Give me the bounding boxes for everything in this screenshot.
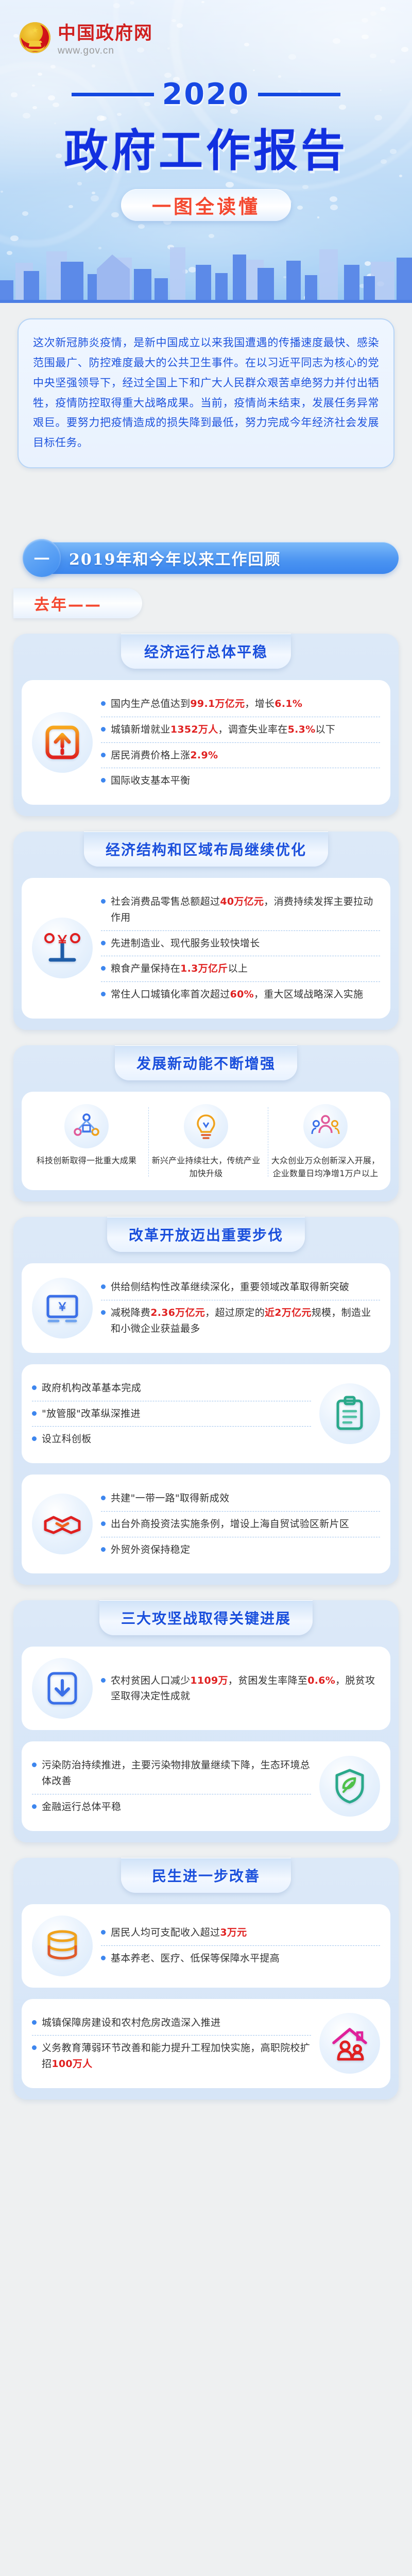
coins-stack-icon: [32, 1916, 93, 1976]
bullet-item: 金融运行总体平稳: [32, 1794, 311, 1820]
card-body: 污染防治持续推进，主要污染物排放量继续下降，生态环境总体改善金融运行总体平稳: [22, 1741, 390, 1831]
bullet-text-segment: 供给侧结构性改革继续深化，重要领域改革取得新突破: [111, 1281, 349, 1293]
bullet-list: 城镇保障房建设和农村危房改造深入推进义务教育薄弱环节改善和能力提升工程加快实施，…: [32, 2010, 311, 2077]
bullet-text-segment: 设立科创板: [42, 1433, 92, 1445]
bullet-text: 社会消费品零售总额超过40万亿元，消费持续发挥主要拉动作用: [111, 894, 380, 926]
year-tag: 去年——: [13, 588, 142, 618]
bullet-item: 外贸外资保持稳定: [101, 1537, 380, 1563]
bullet-text: "放管服"改革纵深推进: [42, 1406, 141, 1422]
card-columns: 科技创新取得一批重大成果新兴产业持续壮大，传统产业加快升级大众创业万众创新深入开…: [22, 1092, 390, 1191]
bullet-text-segment: 以下: [316, 724, 336, 735]
bullet-item: 设立科创板: [32, 1426, 311, 1452]
bullet-item: 社会消费品零售总额超过40万亿元，消费持续发挥主要拉动作用: [101, 889, 380, 930]
bullet-text: 金融运行总体平稳: [42, 1799, 121, 1815]
bullet-item: 常住人口城镇化率首次超过60%，重大区域战略深入实施: [101, 981, 380, 1007]
bullet-dot: [101, 966, 106, 971]
card-body: 城镇保障房建设和农村危房改造深入推进义务教育薄弱环节改善和能力提升工程加快实施，…: [22, 1999, 390, 2088]
bullet-text: 外贸外资保持稳定: [111, 1542, 190, 1558]
bullet-list: 农村贫困人口减少1109万，贫困发生率降至0.6%，脱贫攻坚取得决定性成就: [101, 1668, 380, 1709]
bullet-list: 污染防治持续推进，主要污染物排放量继续下降，生态环境总体改善金融运行总体平稳: [32, 1753, 311, 1819]
house-family-icon: [319, 2013, 380, 2074]
bullet-text: 供给侧结构性改革继续深化，重要领域改革取得新突破: [111, 1279, 349, 1295]
bullet-text-segment: 金融运行总体平稳: [42, 1801, 121, 1812]
card-title: 改革开放迈出重要步伐: [107, 1217, 305, 1252]
card-body: ￥供给侧结构性改革继续深化，重要领域改革取得新突破减税降费2.36万亿元，超过原…: [22, 1263, 390, 1352]
bullet-dot: [32, 1385, 37, 1390]
highlight-value: 5.3%: [288, 724, 316, 735]
bullet-item: 共建"一带一路"取得新成效: [101, 1486, 380, 1511]
bullet-text-segment: 外贸外资保持稳定: [111, 1544, 190, 1555]
highlight-value: 60%: [230, 989, 254, 1000]
card-title-text: 三大攻坚战取得关键进展: [121, 1610, 291, 1627]
bullet-text: 国内生产总值达到99.1万亿元，增长6.1%: [111, 696, 302, 712]
bullet-text-segment: 城镇保障房建设和农村危房改造深入推进: [42, 2017, 220, 2028]
bullet-text-segment: 国内生产总值达到: [111, 698, 190, 709]
bullet-dot: [101, 1521, 106, 1526]
content-card: 改革开放迈出重要步伐￥供给侧结构性改革继续深化，重要领域改革取得新突破减税降费2…: [13, 1217, 399, 1585]
card-title: 发展新动能不断增强: [115, 1045, 297, 1080]
highlight-value: 100万人: [51, 2058, 92, 2070]
bullet-text: 粮食产量保持在1.3万亿斤以上: [111, 961, 248, 977]
bullet-text: 义务教育薄弱环节改善和能力提升工程加快实施，高职院校扩招100万人: [42, 2040, 311, 2072]
card-title: 经济结构和区域布局继续优化: [84, 832, 328, 867]
bullet-text: 常住人口城镇化率首次超过60%，重大区域战略深入实施: [111, 987, 363, 1003]
bullet-item: 国内生产总值达到99.1万亿元，增长6.1%: [101, 691, 380, 717]
bullet-dot: [101, 1496, 106, 1500]
bullet-text-segment: 以上: [228, 963, 248, 974]
bullet-text-segment: ，调查失业率在: [218, 724, 288, 735]
bullet-item: "放管服"改革纵深推进: [32, 1401, 311, 1427]
people-group-icon: [303, 1104, 348, 1148]
bullet-dot: [101, 899, 106, 904]
bullet-text: 国际收支基本平衡: [111, 773, 190, 789]
bullet-item: 居民人均可支配收入超过3万元: [101, 1920, 380, 1945]
bullet-item: 农村贫困人口减少1109万，贫困发生率降至0.6%，脱贫攻坚取得决定性成就: [101, 1668, 380, 1709]
bullet-dot: [101, 701, 106, 706]
bullet-dot: [101, 1956, 106, 1960]
bullet-item: 居民消费价格上涨2.9%: [101, 742, 380, 768]
bullet-dot: [32, 2045, 37, 2050]
bullet-item: 粮食产量保持在1.3万亿斤以上: [101, 956, 380, 981]
content-card: 经济运行总体平稳国内生产总值达到99.1万亿元，增长6.1%城镇新增就业1352…: [13, 634, 399, 816]
rmb-hands-icon: ￥: [32, 1278, 93, 1338]
highlight-value: 40万亿元: [220, 896, 264, 907]
hero-subtitle: 一图全读懂: [152, 191, 260, 219]
highlight-value: 近2万亿元: [265, 1307, 312, 1318]
title-rule: [72, 93, 154, 96]
hero-subtitle-pill: 一图全读懂: [121, 189, 291, 221]
bullet-text-segment: ，增长: [245, 698, 274, 709]
column-text: 大众创业万众创新深入开展，企业数量日均净增1万户以上: [271, 1155, 380, 1180]
handshake-icon: [32, 1494, 93, 1554]
bullet-dot: [32, 1411, 37, 1416]
card-title-text: 民生进一步改善: [152, 1868, 260, 1885]
bullet-text: 城镇新增就业1352万人，调查失业率在5.3%以下: [111, 722, 335, 738]
chip-network-icon: [64, 1104, 109, 1148]
highlight-value: 6.1%: [274, 698, 302, 709]
bullet-item: 城镇保障房建设和农村危房改造深入推进: [32, 2010, 311, 2036]
bullet-dot: [101, 1547, 106, 1552]
bullet-text: 居民人均可支配收入超过3万元: [111, 1925, 247, 1941]
bullet-text-segment: 出台外商投资法实施条例，增设上海自贸试验区新片区: [111, 1518, 349, 1530]
bullet-text: 共建"一带一路"取得新成效: [111, 1490, 229, 1506]
bullet-text: 先进制造业、现代服务业较快增长: [111, 936, 260, 952]
highlight-value: 0.6%: [307, 1675, 335, 1686]
column-text: 新兴产业持续壮大，传统产业加快升级: [151, 1155, 261, 1180]
bullet-text-segment: ，贫困发生率降至: [228, 1675, 307, 1686]
bullet-text-segment: "放管服"改革纵深推进: [42, 1408, 141, 1419]
bullet-dot: [101, 992, 106, 996]
bullet-list: 国内生产总值达到99.1万亿元，增长6.1%城镇新增就业1352万人，调查失业率…: [101, 691, 380, 793]
bullet-dot: [32, 1762, 37, 1767]
bullet-dot: [101, 1678, 106, 1683]
card-body: ￥社会消费品零售总额超过40万亿元，消费持续发挥主要拉动作用先进制造业、现代服务…: [22, 878, 390, 1019]
bullet-text: 政府机构改革基本完成: [42, 1380, 141, 1396]
bullet-text-segment: 共建"一带一路"取得新成效: [111, 1493, 229, 1504]
year-tag-label: 去年——: [34, 592, 102, 615]
card-body: 共建"一带一路"取得新成效出台外商投资法实施条例，增设上海自贸试验区新片区外贸外…: [22, 1475, 390, 1573]
bullet-list: 共建"一带一路"取得新成效出台外商投资法实施条例，增设上海自贸试验区新片区外贸外…: [101, 1486, 380, 1562]
card-body: 国内生产总值达到99.1万亿元，增长6.1%城镇新增就业1352万人，调查失业率…: [22, 680, 390, 805]
bullet-dot: [101, 1930, 106, 1935]
intro-paragraph: 这次新冠肺炎疫情，是新中国成立以来我国遭遇的传播速度最快、感染范围最广、防控难度…: [33, 333, 379, 453]
card-title: 民生进一步改善: [121, 1858, 291, 1893]
intro-section: 这次新冠肺炎疫情，是新中国成立以来我国遭遇的传播速度最快、感染范围最广、防控难度…: [0, 303, 412, 526]
bullet-text: 基本养老、医疗、低保等保障水平提高: [111, 1951, 280, 1967]
bullet-item: 基本养老、医疗、低保等保障水平提高: [101, 1945, 380, 1971]
bullet-text-segment: 农村贫困人口减少: [111, 1675, 190, 1686]
bullet-text-segment: 粮食产量保持在: [111, 963, 180, 974]
bullet-text: 居民消费价格上涨2.9%: [111, 748, 218, 764]
highlight-value: 99.1万亿元: [190, 698, 245, 709]
national-emblem-icon: ★: [20, 22, 50, 53]
card-title-text: 改革开放迈出重要步伐: [129, 1227, 283, 1244]
city-skyline-icon: [0, 242, 412, 304]
page-title: 政府工作报告: [0, 114, 412, 179]
card-body: 居民人均可支配收入超过3万元基本养老、医疗、低保等保障水平提高: [22, 1904, 390, 1988]
clipboard-check-icon: [319, 1383, 380, 1444]
rmb-scale-icon: ￥: [32, 918, 93, 978]
bullet-list: 居民人均可支配收入超过3万元基本养老、医疗、低保等保障水平提高: [101, 1920, 380, 1971]
bullet-item: 污染防治持续推进，主要污染物排放量继续下降，生态环境总体改善: [32, 1753, 311, 1794]
hero-year: 2020: [162, 77, 250, 111]
card-title-text: 发展新动能不断增强: [136, 1055, 276, 1072]
site-brand: ★ 中国政府网 www.gov.cn: [20, 19, 153, 57]
bullet-text: 农村贫困人口减少1109万，贫困发生率降至0.6%，脱贫攻坚取得决定性成就: [111, 1673, 380, 1705]
bullet-dot: [101, 727, 106, 732]
section-header-bar: 2019年和今年以来工作回顾: [36, 542, 399, 574]
bullet-list: 供给侧结构性改革继续深化，重要领域改革取得新突破减税降费2.36万亿元，超过原定…: [101, 1275, 380, 1341]
bullet-text-segment: 政府机构改革基本完成: [42, 1382, 141, 1394]
intro-card: 这次新冠肺炎疫情，是新中国成立以来我国遭遇的传播速度最快、感染范围最广、防控难度…: [18, 318, 394, 468]
down-arrow-icon: [32, 1658, 93, 1719]
cards-root: 经济运行总体平稳国内生产总值达到99.1万亿元，增长6.1%城镇新增就业1352…: [0, 634, 412, 2099]
highlight-value: 3万元: [220, 1927, 247, 1938]
card-body: 农村贫困人口减少1109万，贫困发生率降至0.6%，脱贫攻坚取得决定性成就: [22, 1647, 390, 1730]
bullet-text: 设立科创板: [42, 1431, 92, 1447]
bullet-item: 先进制造业、现代服务业较快增长: [101, 930, 380, 956]
bullet-text-segment: 国际收支基本平衡: [111, 775, 190, 786]
bullet-text-segment: 常住人口城镇化率首次超过: [111, 989, 230, 1000]
hero-title-block: 2020 政府工作报告 一图全读懂: [0, 77, 412, 221]
card-title: 三大攻坚战取得关键进展: [99, 1600, 313, 1635]
hero-banner: ★ 中国政府网 www.gov.cn 2020 政府工作报告 一图全读懂: [0, 0, 412, 526]
card-title: 经济运行总体平稳: [121, 634, 291, 669]
bullet-dot: [32, 1804, 37, 1809]
column-item: 科技创新取得一批重大成果: [29, 1104, 144, 1180]
card-body: 政府机构改革基本完成"放管服"改革纵深推进设立科创板: [22, 1364, 390, 1463]
bullet-dot: [101, 753, 106, 757]
bullet-text-segment: 居民消费价格上涨: [111, 750, 190, 761]
bullet-list: 政府机构改革基本完成"放管服"改革纵深推进设立科创板: [32, 1376, 311, 1452]
card-title-text: 经济结构和区域布局继续优化: [106, 841, 306, 858]
column-text: 科技创新取得一批重大成果: [32, 1155, 141, 1167]
bullet-text: 出台外商投资法实施条例，增设上海自贸试验区新片区: [111, 1516, 349, 1532]
leaf-shield-icon: [319, 1756, 380, 1817]
bullet-text-segment: 减税降费: [111, 1307, 150, 1318]
bullet-dot: [32, 2020, 37, 2025]
content-card: 三大攻坚战取得关键进展农村贫困人口减少1109万，贫困发生率降至0.6%，脱贫攻…: [13, 1600, 399, 1842]
bullet-text-segment: ，重大区域战略深入实施: [254, 989, 363, 1000]
bullet-dot: [101, 941, 106, 945]
section-index-badge: 一: [23, 539, 61, 577]
bullet-item: 出台外商投资法实施条例，增设上海自贸试验区新片区: [101, 1511, 380, 1537]
bullet-item: 义务教育薄弱环节改善和能力提升工程加快实施，高职院校扩招100万人: [32, 2035, 311, 2077]
site-brand-cn: 中国政府网: [58, 19, 153, 45]
lightbulb-icon: [184, 1104, 228, 1148]
svg-text:￥: ￥: [57, 1301, 68, 1314]
bullet-text-segment: ，超过原定的: [205, 1307, 265, 1318]
bullet-text-segment: 社会消费品零售总额超过: [111, 896, 220, 907]
content-card: 民生进一步改善居民人均可支配收入超过3万元基本养老、医疗、低保等保障水平提高城镇…: [13, 1858, 399, 2099]
bullet-text: 减税降费2.36万亿元，超过原定的近2万亿元规模，制造业和小微企业获益最多: [111, 1305, 380, 1337]
arrow-up-box-icon: [32, 712, 93, 773]
bullet-dot: [101, 778, 106, 783]
bullet-item: 供给侧结构性改革继续深化，重要领域改革取得新突破: [101, 1275, 380, 1300]
bullet-dot: [32, 1436, 37, 1441]
highlight-value: 1352万人: [170, 724, 218, 735]
bullet-text-segment: 城镇新增就业: [111, 724, 170, 735]
bullet-item: 国际收支基本平衡: [101, 768, 380, 793]
bullet-text-segment: 污染防治持续推进，主要污染物排放量继续下降，生态环境总体改善: [42, 1759, 310, 1787]
content-card: 经济结构和区域布局继续优化￥社会消费品零售总额超过40万亿元，消费持续发挥主要拉…: [13, 832, 399, 1030]
site-brand-en: www.gov.cn: [58, 45, 153, 57]
highlight-value: 1.3万亿斤: [180, 963, 228, 974]
section-title: 2019年和今年以来工作回顾: [69, 547, 281, 569]
column-item: 新兴产业持续壮大，传统产业加快升级: [148, 1104, 264, 1180]
content-card: 发展新动能不断增强科技创新取得一批重大成果新兴产业持续壮大，传统产业加快升级大众…: [13, 1045, 399, 1202]
bullet-item: 城镇新增就业1352万人，调查失业率在5.3%以下: [101, 717, 380, 742]
bullet-item: 减税降费2.36万亿元，超过原定的近2万亿元规模，制造业和小微企业获益最多: [101, 1300, 380, 1342]
bullet-text-segment: 基本养老、医疗、低保等保障水平提高: [111, 1953, 280, 1964]
card-title-text: 经济运行总体平稳: [144, 643, 268, 660]
bullet-text: 污染防治持续推进，主要污染物排放量继续下降，生态环境总体改善: [42, 1757, 311, 1789]
highlight-value: 2.36万亿元: [150, 1307, 205, 1318]
bullet-list: 社会消费品零售总额超过40万亿元，消费持续发挥主要拉动作用先进制造业、现代服务业…: [101, 889, 380, 1007]
highlight-value: 2.9%: [190, 750, 218, 761]
column-item: 大众创业万众创新深入开展，企业数量日均净增1万户以上: [268, 1104, 383, 1180]
bullet-item: 政府机构改革基本完成: [32, 1376, 311, 1401]
bullet-text-segment: 居民人均可支配收入超过: [111, 1927, 220, 1938]
title-rule: [258, 93, 340, 96]
bullet-dot: [101, 1284, 106, 1289]
bullet-text-segment: 先进制造业、现代服务业较快增长: [111, 938, 260, 949]
highlight-value: 1109万: [190, 1675, 228, 1686]
section-header: 2019年和今年以来工作回顾 一: [13, 539, 399, 577]
bullet-dot: [101, 1310, 106, 1315]
bullet-text: 城镇保障房建设和农村危房改造深入推进: [42, 2015, 220, 2031]
